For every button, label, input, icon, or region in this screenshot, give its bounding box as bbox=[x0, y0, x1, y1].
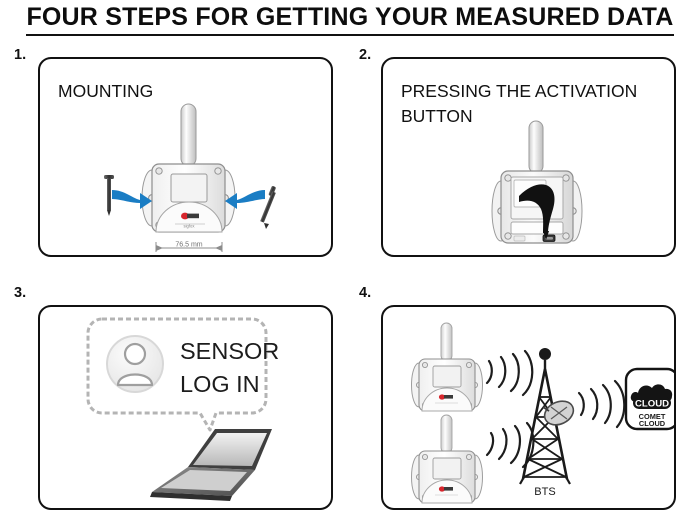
svg-text:sigfox: sigfox bbox=[184, 224, 196, 229]
poster-title-text: FOUR STEPS FOR GETTING YOUR MEASURED DAT… bbox=[26, 4, 673, 36]
sensor-device-2 bbox=[412, 415, 483, 503]
dimension-label: 76.5 mm bbox=[175, 242, 202, 249]
step-number-1: 1. bbox=[14, 47, 26, 63]
step-panel-1: MOUNTING bbox=[38, 57, 333, 257]
bubble-line-1: SENSOR bbox=[180, 338, 279, 364]
step-number-4: 4. bbox=[359, 285, 371, 301]
user-avatar-icon bbox=[107, 336, 163, 392]
poster-title: FOUR STEPS FOR GETTING YOUR MEASURED DAT… bbox=[0, 4, 700, 36]
step-panel-4: BTS CLOUD COMET CL bbox=[381, 305, 676, 510]
sensor-device-1 bbox=[412, 323, 483, 411]
step-1-illustration: sigfox bbox=[40, 59, 331, 255]
poster-root: FOUR STEPS FOR GETTING YOUR MEASURED DAT… bbox=[0, 0, 700, 523]
step-4-illustration: BTS CLOUD COMET CL bbox=[383, 307, 674, 508]
step-3-illustration: SENSOR LOG IN bbox=[40, 307, 331, 508]
bts-label: BTS bbox=[534, 486, 555, 498]
step-2-illustration bbox=[383, 59, 674, 255]
cloud-caption-line-2: CLOUD bbox=[639, 419, 666, 428]
step-number-2: 2. bbox=[359, 47, 371, 63]
cloud-badge-text: CLOUD bbox=[635, 399, 669, 410]
bts-tower-icon bbox=[520, 348, 577, 484]
bubble-line-2: LOG IN bbox=[180, 371, 260, 397]
comet-cloud-badge: CLOUD COMET CLOUD bbox=[626, 369, 674, 429]
radio-waves-3 bbox=[579, 381, 624, 427]
step-number-3: 3. bbox=[14, 285, 26, 301]
antenna-icon bbox=[529, 121, 543, 173]
step-panel-3: SENSOR LOG IN bbox=[38, 305, 333, 510]
dimension-line: 76.5 mm bbox=[156, 242, 222, 253]
step-panel-2: PRESSING THE ACTIVATION BUTTON bbox=[381, 57, 676, 257]
radio-waves-1 bbox=[487, 351, 532, 395]
laptop-icon bbox=[150, 429, 272, 501]
antenna-icon bbox=[181, 104, 196, 166]
